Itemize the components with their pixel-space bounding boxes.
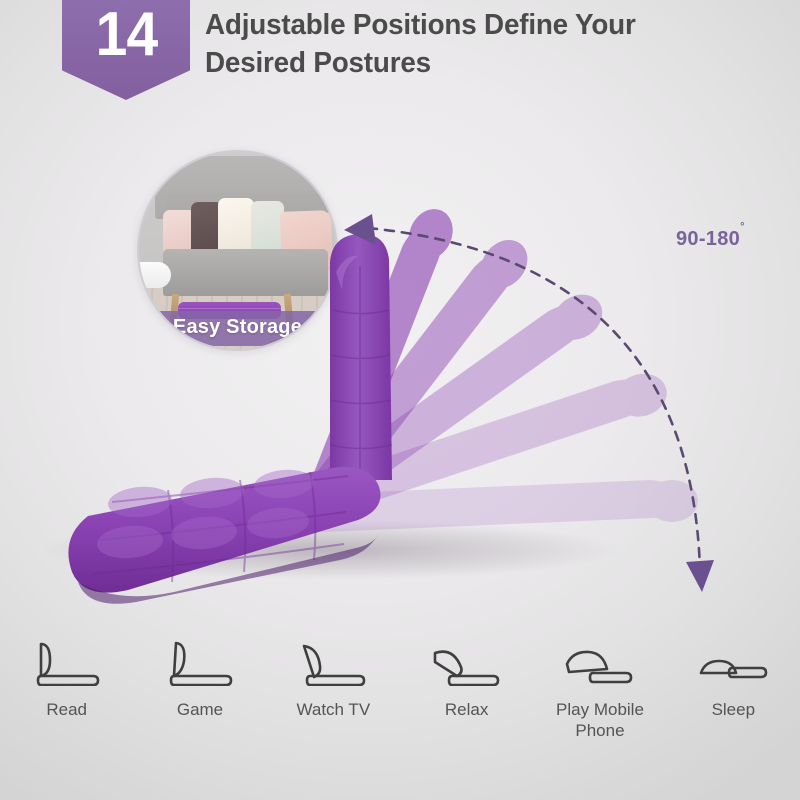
chair-recline-icon [296, 640, 370, 686]
position-item-watch-tv[interactable]: Watch TV [267, 640, 400, 790]
chair-near-flat-icon [563, 640, 637, 686]
position-item-read[interactable]: Read [0, 640, 133, 790]
floor-chair-illustration [0, 150, 800, 630]
position-item-relax[interactable]: Relax [400, 640, 533, 790]
infographic-page: 14 Adjustable Positions Define Your Desi… [0, 0, 800, 800]
page-title: Adjustable Positions Define Your Desired… [205, 6, 743, 83]
chair-upright-icon [30, 640, 104, 686]
chair-flat-icon [696, 640, 770, 686]
arc-arrowhead-bottom [686, 560, 714, 592]
degree-symbol: ° [740, 221, 745, 233]
header: 14 Adjustable Positions Define Your Desi… [0, 0, 800, 120]
chair-deep-recline-icon [430, 640, 504, 686]
position-label: Play Mobile Phone [545, 700, 655, 741]
position-item-sleep[interactable]: Sleep [667, 640, 800, 790]
position-item-play-mobile-phone[interactable]: Play Mobile Phone [533, 640, 666, 790]
page-title-line-2: Desired Postures [205, 44, 743, 82]
badge-number: 14 [95, 4, 157, 66]
angle-range-value: 90-180 [676, 228, 740, 250]
chair-backrest [330, 234, 392, 480]
position-item-game[interactable]: Game [133, 640, 266, 790]
position-label: Game [177, 700, 223, 721]
angle-range-label: 90-180° [676, 228, 745, 251]
chair-slight-recline-icon [163, 640, 237, 686]
position-label: Read [46, 700, 87, 721]
position-label: Relax [445, 700, 488, 721]
product-stage [0, 150, 800, 630]
position-icon-row: Read Game Watch TV [0, 640, 800, 790]
position-label: Watch TV [296, 700, 370, 721]
position-label: Sleep [712, 700, 755, 721]
number-badge: 14 [62, 0, 190, 100]
page-title-line-1: Adjustable Positions Define Your [205, 6, 743, 44]
